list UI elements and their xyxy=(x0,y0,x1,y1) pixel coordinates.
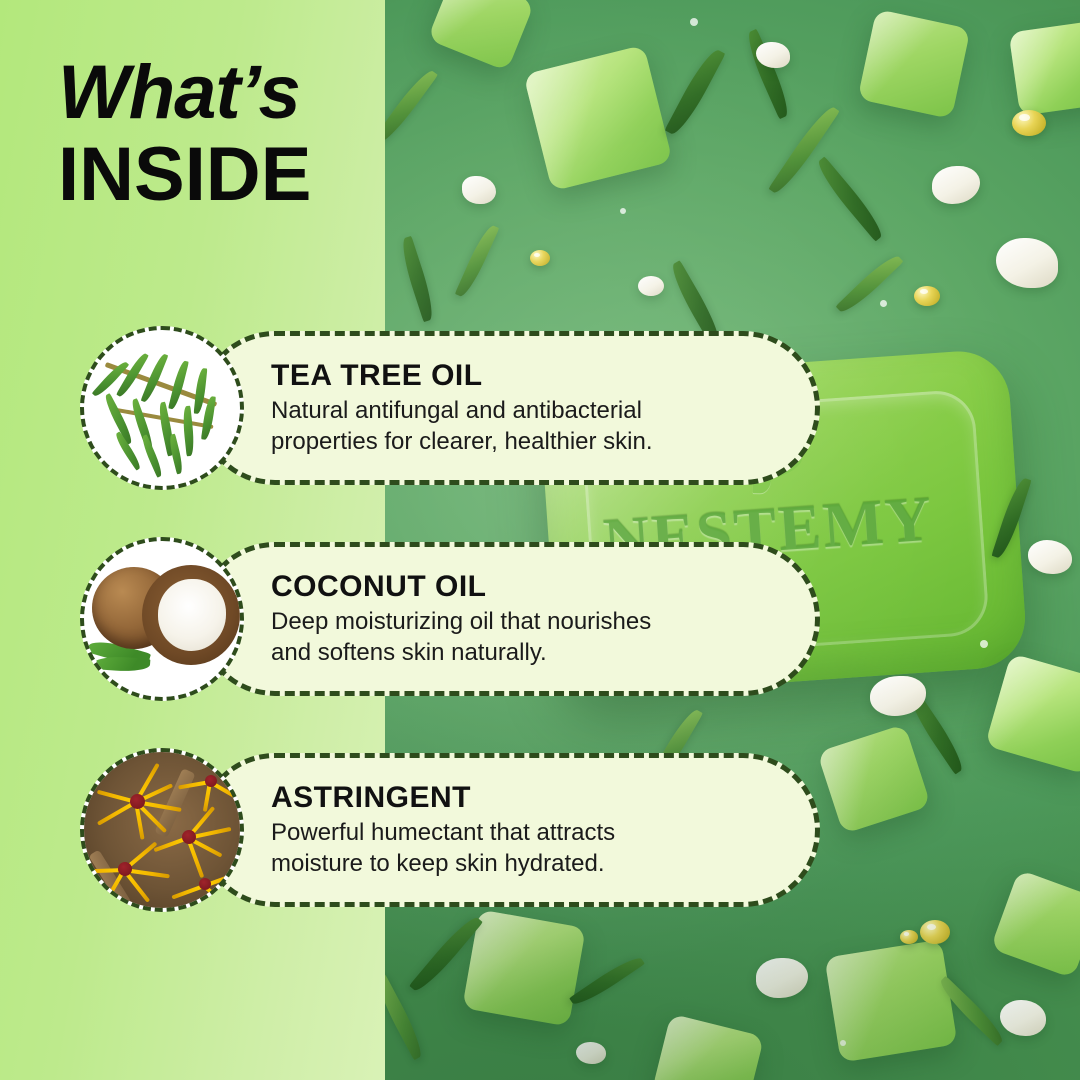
ingredient-title: TEA TREE OIL xyxy=(271,359,653,393)
ingredient-card-coconut-oil[interactable]: COCONUT OIL Deep moisturizing oil that n… xyxy=(198,542,820,696)
page-title-line-1: What’s xyxy=(58,56,311,130)
ingredient-card-astringent[interactable]: ASTRINGENT Powerful humectant that attra… xyxy=(198,753,820,907)
ingredient-description: Natural antifungal and antibacterial pro… xyxy=(271,396,653,457)
page-title: What’s INSIDE xyxy=(58,56,311,213)
ingredient-description-line-2: properties for clearer, healthier skin. xyxy=(271,427,653,458)
ingredient-card-tea-tree-oil[interactable]: TEA TREE OIL Natural antifungal and anti… xyxy=(198,331,820,485)
ingredient-description-line-2: moisture to keep skin hydrated. xyxy=(271,849,615,880)
ingredient-description-line-1: Natural antifungal and antibacterial xyxy=(271,396,653,427)
coconut-icon xyxy=(84,541,240,697)
ingredient-description-line-1: Powerful humectant that attracts xyxy=(271,818,615,849)
ingredient-description: Powerful humectant that attracts moistur… xyxy=(271,818,615,879)
tea-tree-sprig-icon xyxy=(84,330,240,486)
infographic-poster: NESTEMY xyxy=(0,0,1080,1080)
ingredient-image-astringent xyxy=(80,748,244,912)
ingredient-text: COCONUT OIL Deep moisturizing oil that n… xyxy=(203,570,681,668)
ingredient-description: Deep moisturizing oil that nourishes and… xyxy=(271,607,651,668)
ingredient-text: TEA TREE OIL Natural antifungal and anti… xyxy=(203,359,683,457)
ingredient-text: ASTRINGENT Powerful humectant that attra… xyxy=(203,781,645,879)
ingredient-image-coconut-oil xyxy=(80,537,244,701)
page-title-line-2: INSIDE xyxy=(58,138,311,212)
ingredient-image-tea-tree-oil xyxy=(80,326,244,490)
ingredient-title: ASTRINGENT xyxy=(271,781,615,815)
ingredient-description-line-1: Deep moisturizing oil that nourishes xyxy=(271,607,651,638)
ingredient-description-line-2: and softens skin naturally. xyxy=(271,638,651,669)
ingredient-title: COCONUT OIL xyxy=(271,570,651,604)
witch-hazel-flower-icon xyxy=(84,752,240,908)
